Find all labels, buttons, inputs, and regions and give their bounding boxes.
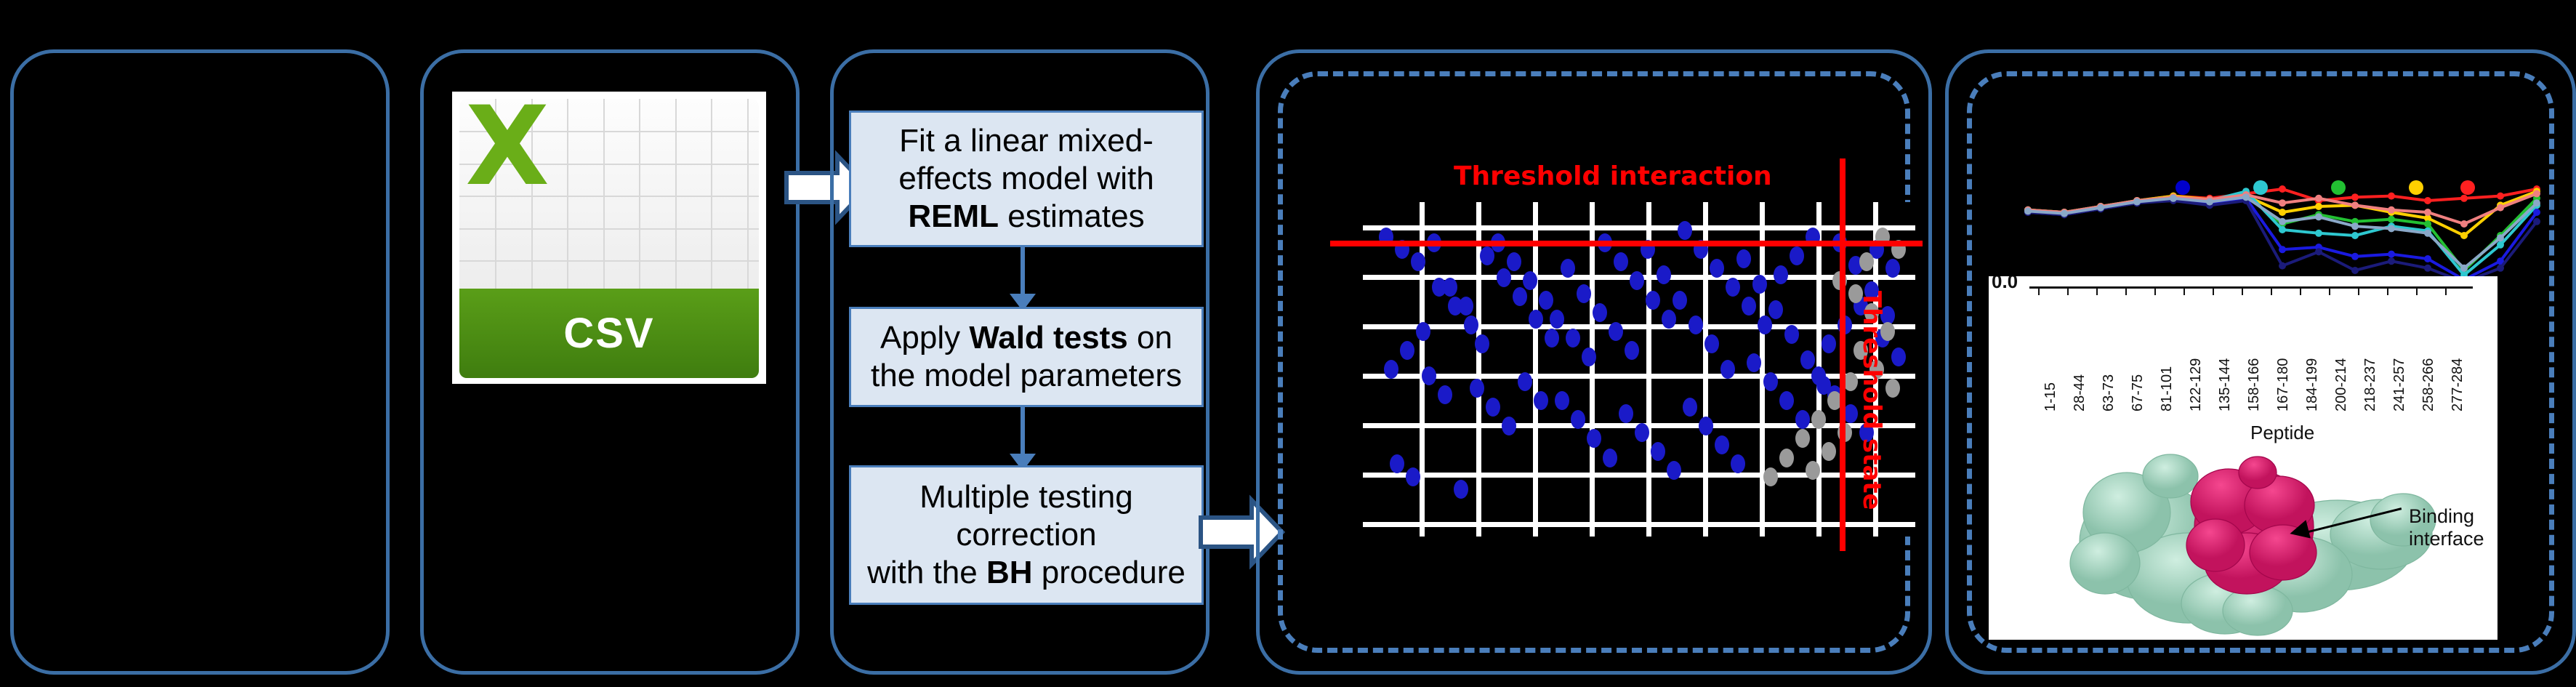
scatter-point-significant bbox=[1689, 316, 1703, 334]
peptide-marker bbox=[2388, 216, 2395, 223]
scatter-point-significant bbox=[1518, 372, 1532, 391]
peptide-marker bbox=[2424, 265, 2431, 272]
scatter-point-significant bbox=[1779, 391, 1794, 410]
scatter-point-significant bbox=[1523, 271, 1537, 290]
step3-line3-pre: with the bbox=[867, 555, 986, 590]
scatter-point-significant bbox=[1545, 329, 1559, 347]
scatter-point-significant bbox=[1720, 360, 1735, 379]
scatter-point-significant bbox=[1422, 366, 1436, 385]
step1-line1: Fit a linear mixed- bbox=[899, 123, 1154, 158]
peptide-marker bbox=[2351, 232, 2359, 239]
peptide-marker bbox=[2424, 209, 2431, 216]
protein-structure-image bbox=[2061, 433, 2439, 636]
peptide-marker bbox=[2279, 185, 2286, 193]
scatter-point-significant bbox=[1555, 391, 1569, 410]
scatter-point-significant bbox=[1731, 454, 1745, 473]
peptide-tick-label: 1-15 bbox=[2042, 382, 2059, 411]
scatter-point-significant bbox=[1790, 246, 1804, 265]
x-axis-tick-mark bbox=[2416, 288, 2418, 295]
scatter-point-nonsignificant bbox=[1763, 467, 1778, 486]
step2-line1-pre: Apply bbox=[880, 320, 969, 355]
scatter-point-significant bbox=[1726, 278, 1740, 297]
peptide-marker bbox=[2388, 257, 2395, 265]
peptide-marker bbox=[2533, 199, 2540, 206]
scatter-point-significant bbox=[1561, 259, 1575, 278]
scatter-point-significant bbox=[1742, 297, 1756, 316]
x-axis-tick-mark bbox=[2154, 288, 2156, 295]
peptide-marker bbox=[2206, 198, 2213, 206]
scatter-point-significant bbox=[1710, 259, 1724, 278]
scatter-point-significant bbox=[1752, 275, 1767, 294]
peptide-marker bbox=[2424, 230, 2431, 237]
peptide-marker bbox=[2424, 220, 2431, 228]
x-axis-tick-mark bbox=[2329, 288, 2330, 295]
scatter-point-significant bbox=[1619, 404, 1633, 423]
peptide-tick-label: 277-284 bbox=[2450, 358, 2466, 411]
peptide-marker bbox=[2024, 207, 2032, 214]
peptide-marker bbox=[2279, 262, 2286, 270]
csv-file-icon: X CSV bbox=[452, 92, 766, 384]
peptide-marker bbox=[2351, 222, 2359, 230]
csv-icon-card: X CSV bbox=[459, 99, 759, 378]
scatter-point-significant bbox=[1795, 410, 1810, 429]
x-axis-tick-mark bbox=[2271, 288, 2272, 295]
scatter-point-significant bbox=[1464, 316, 1478, 334]
peptide-marker bbox=[2061, 210, 2068, 217]
scatter-point-significant bbox=[1763, 372, 1778, 391]
x-axis-tick-mark bbox=[2067, 288, 2069, 295]
peptide-marker bbox=[2351, 253, 2359, 260]
scatter-point-significant bbox=[1662, 310, 1676, 329]
peptide-marker bbox=[2170, 195, 2177, 202]
scatter-point-significant bbox=[1390, 454, 1404, 473]
peptide-tick-label: 200-214 bbox=[2333, 358, 2350, 411]
x-axis-tick-mark bbox=[2358, 288, 2359, 295]
scatter-point-significant bbox=[1651, 442, 1665, 461]
peptide-marker bbox=[2460, 220, 2468, 228]
step3-line3-post: procedure bbox=[1033, 555, 1186, 590]
scatter-point-significant bbox=[1587, 429, 1601, 448]
scatter-point-significant bbox=[1416, 322, 1430, 341]
scatter-point-significant bbox=[1747, 353, 1761, 372]
step3-line2: correction bbox=[956, 517, 1096, 553]
peptide-tick-label: 28-44 bbox=[2072, 374, 2088, 411]
scatter-point-significant bbox=[1593, 303, 1607, 322]
scatter-point-significant bbox=[1454, 480, 1468, 499]
scatter-point-significant bbox=[1603, 449, 1617, 467]
peptide-marker bbox=[2279, 199, 2286, 206]
scatter-point-nonsignificant bbox=[1822, 442, 1836, 461]
threshold-interaction-line bbox=[1330, 241, 1923, 246]
binding-line1: Binding bbox=[2409, 505, 2474, 527]
peptide-marker bbox=[2315, 213, 2322, 220]
connector-step2-step3 bbox=[1021, 407, 1025, 457]
scatter-point-significant bbox=[1400, 341, 1414, 360]
excel-x-letter: X bbox=[465, 105, 615, 284]
scatter-point-significant bbox=[1497, 268, 1511, 287]
scatter-point-significant bbox=[1411, 252, 1425, 271]
scatter-point-significant bbox=[1736, 249, 1751, 268]
x-axis-tick-mark bbox=[2125, 288, 2127, 295]
threshold-interaction-label: Threshold interaction bbox=[1454, 161, 1772, 191]
x-axis-tick-mark bbox=[2242, 288, 2243, 295]
scatter-point-significant bbox=[1571, 410, 1585, 429]
legend-dot-series-1 bbox=[2175, 180, 2190, 195]
peptide-marker bbox=[2315, 248, 2322, 255]
peptide-marker bbox=[2315, 195, 2322, 202]
peptide-tick-label: 122-129 bbox=[2188, 358, 2205, 411]
x-axis-tick-mark bbox=[2445, 288, 2447, 295]
scatter-point-significant bbox=[1625, 341, 1639, 360]
peptide-marker bbox=[2388, 225, 2395, 232]
peptide-tick-label: 241-257 bbox=[2391, 358, 2408, 411]
step-bh-correction-box[interactable]: Multiple testing correction with the BH … bbox=[849, 465, 1204, 605]
scatter-point-significant bbox=[1507, 252, 1521, 271]
peptide-marker bbox=[2351, 193, 2359, 201]
peptide-marker bbox=[2460, 232, 2468, 239]
peptide-marker bbox=[2424, 197, 2431, 204]
x-axis-tick-mark bbox=[2038, 288, 2040, 295]
step1-line2: effects model with bbox=[898, 161, 1154, 196]
scatter-point-significant bbox=[1678, 221, 1692, 240]
scatter-point-significant bbox=[1609, 322, 1623, 341]
peptide-marker bbox=[2097, 204, 2104, 212]
scatter-point-nonsignificant bbox=[1859, 252, 1874, 271]
peptide-tick-label: 63-73 bbox=[2101, 374, 2117, 411]
x-axis-tick-mark bbox=[2300, 288, 2301, 295]
scatter-point-significant bbox=[1566, 329, 1580, 347]
binding-interface-caption: Binding interface bbox=[2409, 505, 2484, 550]
scatter-point-significant bbox=[1406, 467, 1420, 486]
legend-dot-series-3 bbox=[2331, 180, 2346, 195]
connector-step1-step2 bbox=[1021, 247, 1025, 297]
scatter-point-significant bbox=[1646, 291, 1660, 310]
volcano-scatter-area bbox=[1363, 202, 1915, 537]
scatter-point-significant bbox=[1384, 360, 1398, 379]
scatter-point-significant bbox=[1667, 461, 1681, 480]
scatter-points-layer bbox=[1363, 202, 1915, 537]
peptide-marker bbox=[2497, 234, 2504, 241]
step-fit-model-box[interactable]: Fit a linear mixed- effects model with R… bbox=[849, 111, 1204, 247]
x-axis-tick-mark bbox=[2183, 288, 2185, 295]
scatter-point-significant bbox=[1673, 291, 1687, 310]
x-axis-tick-mark bbox=[2387, 288, 2388, 295]
peptide-marker bbox=[2279, 218, 2286, 225]
peptide-marker bbox=[2388, 206, 2395, 214]
scatter-point-significant bbox=[1683, 398, 1697, 417]
scatter-point-significant bbox=[1715, 435, 1729, 454]
step3-bh: BH bbox=[986, 555, 1033, 590]
scatter-point-significant bbox=[1822, 334, 1836, 353]
scatter-point-significant bbox=[1800, 350, 1815, 369]
scatter-point-nonsignificant bbox=[1885, 379, 1900, 398]
x-axis-tick-mark bbox=[2096, 288, 2098, 295]
scatter-point-significant bbox=[1539, 291, 1553, 310]
peptide-marker bbox=[2279, 226, 2286, 233]
scatter-point-nonsignificant bbox=[1806, 461, 1820, 480]
scatter-point-significant bbox=[1630, 271, 1644, 290]
peptide-tick-label: 184-199 bbox=[2304, 358, 2321, 411]
peptide-marker bbox=[2460, 265, 2468, 272]
step1-line3-post: estimates bbox=[999, 198, 1145, 234]
input-panel bbox=[10, 49, 390, 675]
scatter-point-significant bbox=[1582, 347, 1596, 366]
peptide-marker bbox=[2460, 195, 2468, 202]
peptide-marker bbox=[2279, 209, 2286, 216]
scatter-point-significant bbox=[1635, 423, 1649, 442]
peptide-tick-label: 67-75 bbox=[2130, 374, 2146, 411]
legend-dot-series-4 bbox=[2409, 180, 2423, 195]
peptide-marker bbox=[2242, 193, 2250, 201]
step1-reml: REML bbox=[908, 198, 999, 234]
scatter-point-significant bbox=[1758, 316, 1772, 334]
threshold-state-label: Threshold state bbox=[1857, 291, 1886, 510]
peptide-line-chart bbox=[2006, 153, 2559, 291]
results-white-figure: 0.0 1-1528-4463-7367-7581-101122-129135-… bbox=[1989, 276, 2497, 640]
peptide-tick-label: 218-237 bbox=[2362, 358, 2379, 411]
legend-dot-series-2 bbox=[2253, 180, 2268, 195]
peptide-marker bbox=[2497, 241, 2504, 249]
step-wald-tests-box[interactable]: Apply Wald tests on the model parameters bbox=[849, 307, 1204, 407]
scatter-point-significant bbox=[1774, 265, 1788, 284]
scatter-point-significant bbox=[1768, 300, 1783, 319]
scatter-point-significant bbox=[1699, 417, 1713, 435]
peptide-tick-label: 258-266 bbox=[2420, 358, 2437, 411]
threshold-state-line bbox=[1840, 158, 1846, 551]
scatter-point-nonsignificant bbox=[1779, 449, 1794, 467]
peptide-marker bbox=[2497, 204, 2504, 212]
peptide-marker bbox=[2388, 193, 2395, 200]
peptide-marker bbox=[2533, 209, 2540, 216]
peptide-tick-label: 167-180 bbox=[2275, 358, 2292, 411]
step2-line2: the model parameters bbox=[871, 358, 1182, 393]
peptide-tick-label: 135-144 bbox=[2217, 358, 2234, 411]
peptide-marker bbox=[2351, 201, 2359, 209]
scatter-point-significant bbox=[1534, 391, 1548, 410]
scatter-point-significant bbox=[1470, 379, 1484, 398]
scatter-point-nonsignificant bbox=[1811, 410, 1826, 429]
peptide-marker bbox=[2351, 267, 2359, 274]
peptide-tick-label: 158-166 bbox=[2246, 358, 2263, 411]
peptide-marker bbox=[2424, 255, 2431, 262]
scatter-point-significant bbox=[1438, 385, 1452, 404]
scatter-point-significant bbox=[1502, 417, 1516, 435]
x-axis-tick-mark bbox=[2213, 288, 2214, 295]
step3-line1: Multiple testing bbox=[919, 479, 1132, 515]
peptide-marker bbox=[2533, 218, 2540, 225]
scatter-point-significant bbox=[1784, 325, 1799, 344]
scatter-point-nonsignificant bbox=[1795, 429, 1810, 448]
peptide-marker bbox=[2133, 198, 2141, 206]
scatter-point-significant bbox=[1811, 366, 1826, 385]
step2-wald: Wald tests bbox=[969, 320, 1127, 355]
scatter-point-significant bbox=[1704, 334, 1719, 353]
scatter-point-significant bbox=[1486, 398, 1500, 417]
binding-line2: interface bbox=[2409, 528, 2484, 550]
scatter-point-significant bbox=[1891, 347, 1906, 366]
peptide-marker bbox=[2533, 190, 2540, 197]
scatter-point-significant bbox=[1577, 284, 1591, 303]
peptide-marker bbox=[2497, 193, 2504, 200]
peptide-marker bbox=[2315, 230, 2322, 237]
scatter-point-significant bbox=[1529, 310, 1543, 329]
scatter-point-significant bbox=[1475, 334, 1489, 353]
scatter-point-significant bbox=[1550, 310, 1564, 329]
step2-line1-post: on bbox=[1128, 320, 1172, 355]
scatter-point-significant bbox=[1657, 265, 1671, 284]
scatter-point-significant bbox=[1513, 287, 1527, 306]
peptide-marker bbox=[2497, 265, 2504, 272]
scatter-point-significant bbox=[1885, 259, 1900, 278]
peptide-marker bbox=[2315, 203, 2322, 210]
csv-format-label: CSV bbox=[459, 289, 759, 378]
peptide-tick-label: 81-101 bbox=[2159, 366, 2175, 411]
peptide-marker bbox=[2388, 251, 2395, 258]
peptide-marker bbox=[2279, 246, 2286, 253]
scatter-point-significant bbox=[1614, 252, 1628, 271]
legend-dot-series-5 bbox=[2460, 180, 2475, 195]
